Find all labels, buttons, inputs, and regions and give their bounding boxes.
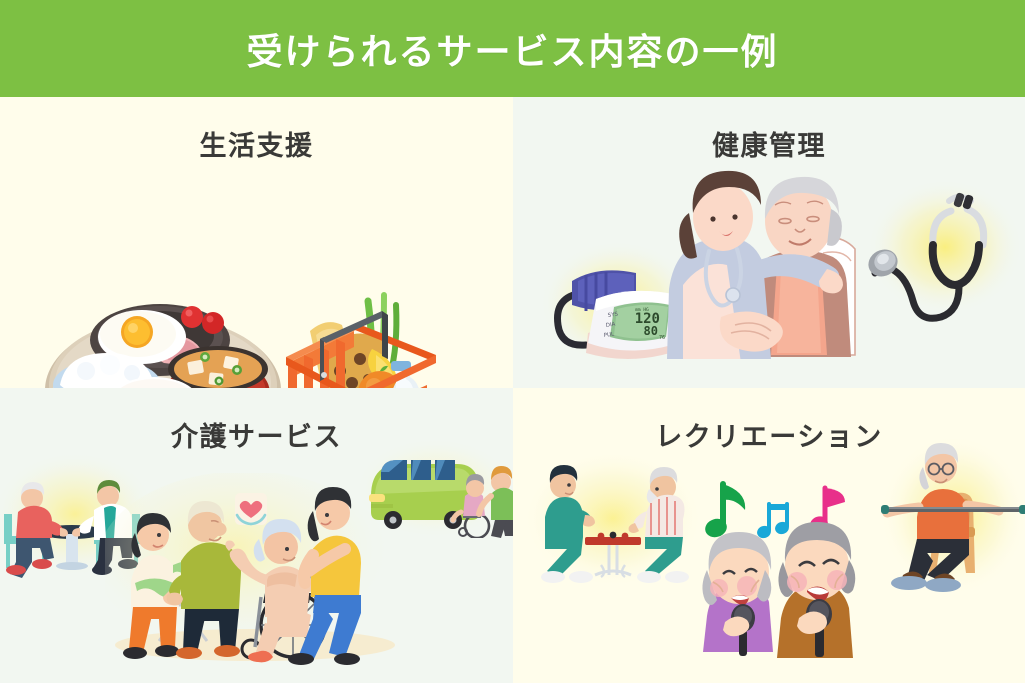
page-title: 受けられるサービス内容の一例: [246, 23, 778, 75]
section-care-service[interactable]: 介護サービス: [0, 388, 513, 683]
page-header: 受けられるサービス内容の一例: [0, 0, 1025, 97]
section-title-recreation: レクリエーション: [513, 388, 1025, 454]
nurse-and-elderly-woman-icon: [665, 169, 865, 359]
section-title-living-support: 生活支援: [0, 97, 513, 163]
karaoke-couple-icon: [693, 466, 873, 658]
shopping-basket-icon: [272, 283, 450, 388]
stethoscope-icon: [863, 175, 1025, 325]
japanese-meal-tray-icon: [38, 285, 288, 388]
svg-text:80: 80: [644, 324, 658, 338]
section-title-health-management: 健康管理: [513, 97, 1025, 163]
section-health-management[interactable]: 健康管理: [513, 97, 1025, 388]
chair-exercise-icon: [879, 433, 1025, 598]
section-recreation[interactable]: レクリエーション: [513, 388, 1025, 683]
section-living-support[interactable]: 生活支援: [0, 97, 513, 388]
page-root: 受けられるサービス内容の一例 生活支援: [0, 0, 1025, 683]
music-note-blue: [755, 504, 790, 540]
board-game-scene-icon: [523, 453, 703, 593]
music-note-green: [703, 484, 745, 540]
service-grid: 生活支援: [0, 97, 1025, 683]
section-title-care-service: 介護サービス: [0, 388, 513, 454]
